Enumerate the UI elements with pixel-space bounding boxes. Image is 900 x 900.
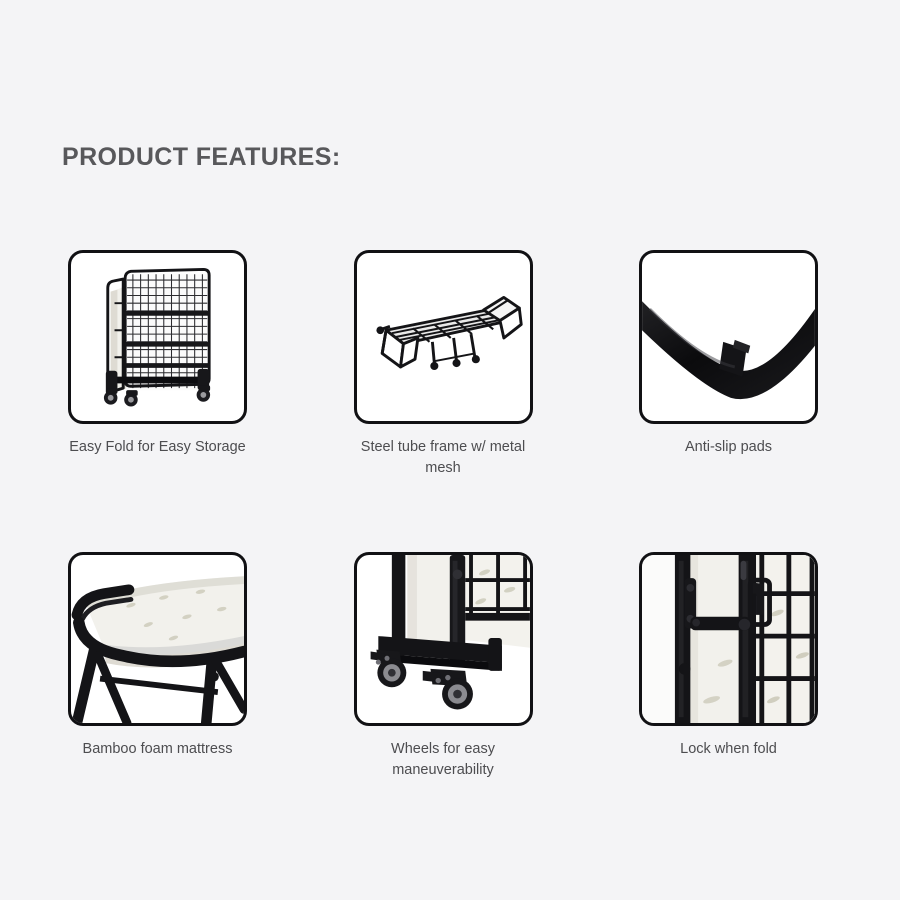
feature-image-card-steel-tube-frame	[354, 250, 533, 424]
feature-image-card-lock-when-fold	[639, 552, 818, 726]
feature-image-card-wheels	[354, 552, 533, 726]
feature-item-lock-when-fold: Lock when fold	[639, 552, 818, 782]
feature-image-card-bamboo-foam-mattress	[68, 552, 247, 726]
page-title: PRODUCT FEATURES:	[62, 143, 341, 172]
feature-item-easy-fold: Easy Fold for Easy Storage	[68, 250, 247, 480]
feature-item-anti-slip-pads: Anti-slip pads	[639, 250, 818, 480]
features-grid: Easy Fold for Easy Storage	[68, 250, 818, 782]
feature-caption-lock-when-fold: Lock when fold	[629, 739, 829, 760]
folded-bed-with-metal-mesh-photo	[71, 253, 244, 421]
feature-caption-anti-slip-pads: Anti-slip pads	[629, 437, 829, 458]
feature-caption-easy-fold: Easy Fold for Easy Storage	[58, 437, 258, 458]
product-features-infographic: PRODUCT FEATURES:	[0, 0, 900, 900]
feature-image-card-anti-slip-pads	[639, 250, 818, 424]
feature-image-card-easy-fold	[68, 250, 247, 424]
feature-caption-wheels: Wheels for easy maneuverability	[343, 739, 543, 782]
feature-item-steel-tube-frame: Steel tube frame w/ metal mesh	[354, 250, 533, 480]
features-row-top: Easy Fold for Easy Storage	[68, 250, 818, 480]
black-anti-slip-pad-strap-closeup-photo	[642, 253, 815, 421]
bamboo-foam-mattress-corner-photo	[71, 555, 244, 723]
feature-item-wheels: Wheels for easy maneuverability	[354, 552, 533, 782]
feature-caption-steel-tube-frame: Steel tube frame w/ metal mesh	[343, 437, 543, 480]
features-row-bottom: Bamboo foam mattress	[68, 552, 818, 782]
open-steel-tube-bed-frame-photo	[357, 253, 530, 421]
feature-item-bamboo-foam-mattress: Bamboo foam mattress	[68, 552, 247, 782]
caster-wheels-closeup-photo	[357, 555, 530, 723]
feature-caption-bamboo-foam-mattress: Bamboo foam mattress	[58, 739, 258, 760]
frame-lock-mechanism-closeup-photo	[642, 555, 815, 723]
